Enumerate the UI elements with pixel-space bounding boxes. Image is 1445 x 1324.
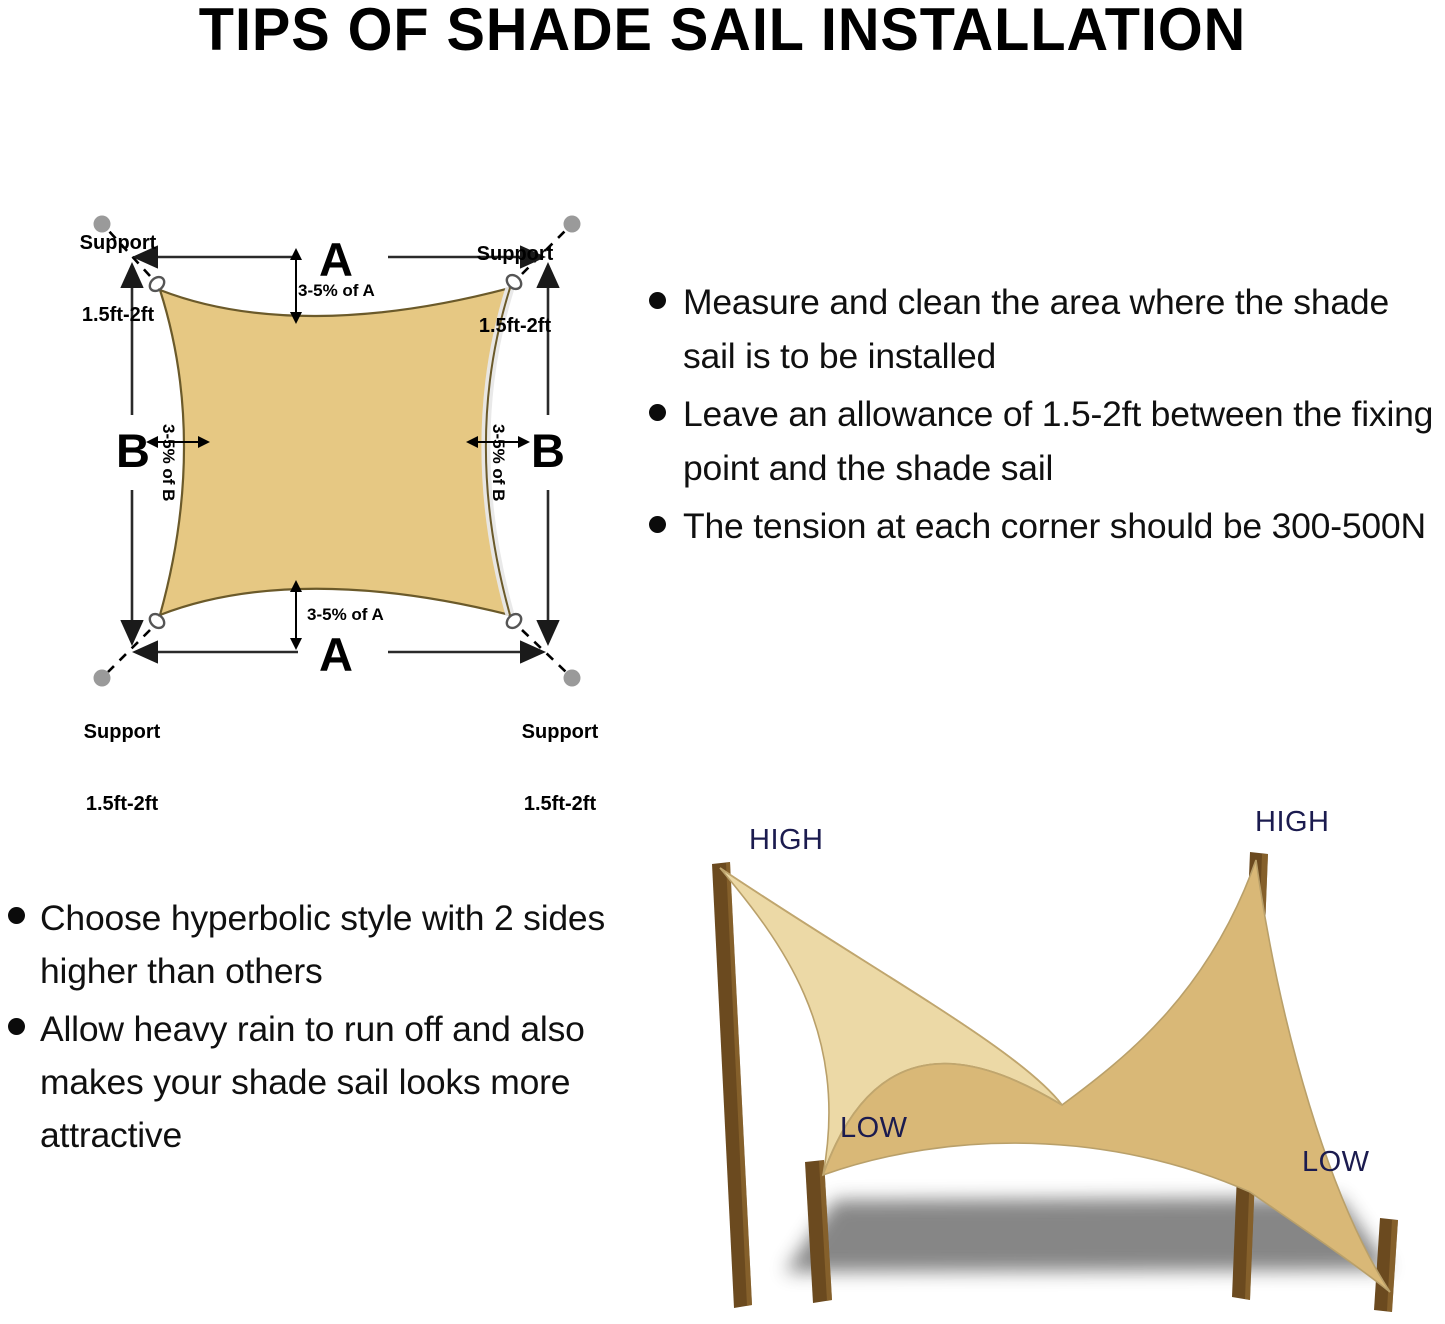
support-label-bottom-left-line1: Support bbox=[62, 720, 182, 744]
infographic-page: TIPS OF SHADE SAIL INSTALLATION bbox=[0, 0, 1445, 1319]
dimension-label-a-bottom: A bbox=[306, 627, 366, 683]
list-item: Measure and clean the area where the sha… bbox=[649, 276, 1445, 384]
page-title: TIPS OF SHADE SAIL INSTALLATION bbox=[29, 0, 1416, 61]
support-label-top-left: Support 1.5ft-2ft bbox=[58, 183, 178, 375]
sag-label-top: 3-5% of A bbox=[298, 281, 375, 301]
label-high-left: HIGH bbox=[749, 824, 824, 857]
bullet-dot-icon bbox=[8, 1018, 25, 1035]
bullet-dot-icon bbox=[8, 907, 25, 924]
tip-text: Allow heavy rain to run off and also mak… bbox=[40, 1003, 638, 1163]
hyperbolic-sail-diagram bbox=[690, 800, 1445, 1319]
bullet-dot-icon bbox=[649, 292, 666, 309]
label-low-left: LOW bbox=[840, 1112, 908, 1145]
tip-text: The tension at each corner should be 300… bbox=[683, 500, 1426, 554]
support-label-top-left-line1: Support bbox=[58, 231, 178, 255]
label-high-right: HIGH bbox=[1255, 806, 1330, 839]
support-label-top-right-line2: 1.5ft-2ft bbox=[455, 314, 575, 338]
support-label-top-left-line2: 1.5ft-2ft bbox=[58, 303, 178, 327]
sag-label-left: 3-5% of B bbox=[158, 424, 178, 501]
pole-low-right bbox=[1374, 1218, 1398, 1312]
bullet-dot-icon bbox=[649, 404, 666, 421]
support-label-bottom-right-line1: Support bbox=[500, 720, 620, 744]
support-label-top-right: Support 1.5ft-2ft bbox=[455, 194, 575, 386]
tip-text: Choose hyperbolic style with 2 sides hig… bbox=[40, 892, 638, 999]
bullet-dot-icon bbox=[649, 516, 666, 533]
list-item: Allow heavy rain to run off and also mak… bbox=[8, 1003, 638, 1163]
list-item: Leave an allowance of 1.5-2ft between th… bbox=[649, 388, 1445, 496]
pole-low-left bbox=[805, 1160, 832, 1303]
dimension-label-b-right: B bbox=[518, 423, 578, 479]
tips-list-bottom-left: Choose hyperbolic style with 2 sides hig… bbox=[8, 892, 638, 1166]
tip-text: Leave an allowance of 1.5-2ft between th… bbox=[683, 388, 1445, 496]
support-label-top-right-line1: Support bbox=[455, 242, 575, 266]
support-label-bottom-left: Support 1.5ft-2ft bbox=[62, 672, 182, 864]
dimension-label-b-left: B bbox=[103, 423, 163, 479]
list-item: Choose hyperbolic style with 2 sides hig… bbox=[8, 892, 638, 999]
label-low-right: LOW bbox=[1302, 1146, 1370, 1179]
dimension-label-a-top: A bbox=[306, 232, 366, 288]
list-item: The tension at each corner should be 300… bbox=[649, 500, 1445, 554]
support-label-bottom-left-line2: 1.5ft-2ft bbox=[62, 792, 182, 816]
sag-label-bottom: 3-5% of A bbox=[307, 605, 384, 625]
support-label-bottom-right-line2: 1.5ft-2ft bbox=[500, 792, 620, 816]
pole-high-left bbox=[712, 862, 752, 1308]
tip-text: Measure and clean the area where the sha… bbox=[683, 276, 1445, 384]
tips-list-top-right: Measure and clean the area where the sha… bbox=[649, 276, 1445, 558]
support-label-bottom-right: Support 1.5ft-2ft bbox=[500, 672, 620, 864]
sag-label-right: 3-5% of B bbox=[488, 424, 508, 501]
